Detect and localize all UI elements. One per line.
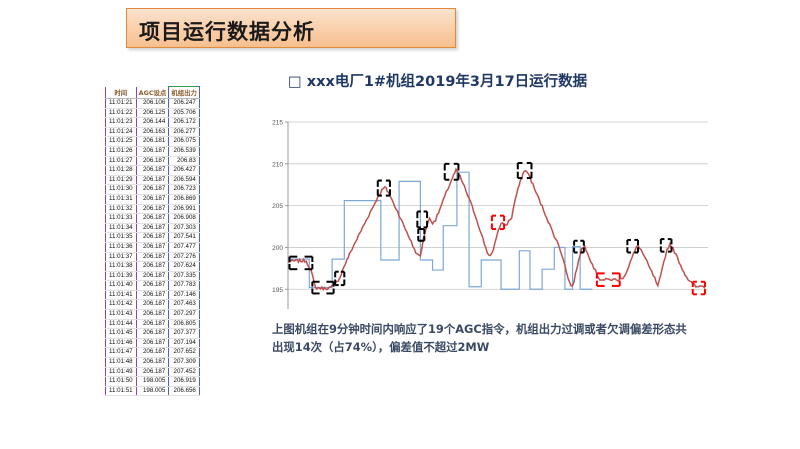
cell-unit-output: 206.991 <box>169 204 200 214</box>
table-row[interactable]: 11:01:24206.163206.277 <box>106 127 200 137</box>
cell-unit-output: 207.463 <box>169 300 200 310</box>
cell-time: 11:01:42 <box>106 300 137 310</box>
overshoot-marker <box>417 211 427 227</box>
cell-unit-output: 206.723 <box>169 185 200 195</box>
table-row[interactable]: 11:01:39206.187207.335 <box>106 271 200 281</box>
table-row[interactable]: 11:01:44206.187206.805 <box>106 319 200 329</box>
table-row[interactable]: 11:01:37206.187207.276 <box>106 252 200 262</box>
cell-agc-setpoint: 206.187 <box>136 319 169 329</box>
cell-time: 11:01:32 <box>106 204 137 214</box>
table-row[interactable]: 11:01:49206.187207.452 <box>106 367 200 377</box>
cell-unit-output: 207.624 <box>169 262 200 272</box>
cell-time: 11:01:45 <box>106 329 137 339</box>
cell-time: 11:01:34 <box>106 223 137 233</box>
chart-caption: 上图机组在9分钟时间内响应了19个AGC指令，机组出力过调或者欠调偏差形态共出现… <box>272 320 692 356</box>
cell-agc-setpoint: 206.187 <box>136 358 169 368</box>
chart-y-axis-labels: 195200205210215 <box>272 120 283 294</box>
cell-unit-output: 206.539 <box>169 146 200 156</box>
table-row[interactable]: 11:01:36206.187207.477 <box>106 242 200 252</box>
agc-response-chart: 195200205210215 <box>258 118 710 313</box>
table-row[interactable]: 11:01:50198.005206.919 <box>106 377 200 387</box>
cell-unit-output: 207.652 <box>169 348 200 358</box>
cell-unit-output: 207.194 <box>169 338 200 348</box>
cell-unit-output: 205.706 <box>169 108 200 118</box>
cell-agc-setpoint: 206.163 <box>136 127 169 137</box>
bullet-square-icon: □ <box>288 74 302 90</box>
cell-unit-output: 207.276 <box>169 252 200 262</box>
table-row[interactable]: 11:01:34206.187207.303 <box>106 223 200 233</box>
cell-unit-output: 207.783 <box>169 281 200 291</box>
table-row[interactable]: 11:01:27206.187206.83 <box>106 156 200 166</box>
cell-time: 11:01:46 <box>106 338 137 348</box>
cell-time: 11:01:35 <box>106 233 137 243</box>
cell-agc-setpoint: 206.187 <box>136 223 169 233</box>
cell-time: 11:01:29 <box>106 175 137 185</box>
cell-agc-setpoint: 206.187 <box>136 367 169 377</box>
cell-unit-output: 207.303 <box>169 223 200 233</box>
column-header-unit-output: 机组出力 <box>169 87 200 99</box>
cell-unit-output: 207.477 <box>169 242 200 252</box>
cell-agc-setpoint: 206.181 <box>136 137 169 147</box>
cell-unit-output: 206.919 <box>169 377 200 387</box>
column-header-time: 时间 <box>106 87 137 99</box>
cell-unit-output: 206.805 <box>169 319 200 329</box>
table: 时间 AGC设点 机组出力 11:01:21206.106206.24711:0… <box>105 86 200 396</box>
table-row[interactable]: 11:01:43206.187207.297 <box>106 310 200 320</box>
cell-agc-setpoint: 206.187 <box>136 175 169 185</box>
cell-agc-setpoint: 206.187 <box>136 185 169 195</box>
table-row[interactable]: 11:01:23206.144206.172 <box>106 118 200 128</box>
cell-time: 11:01:21 <box>106 99 137 109</box>
cell-agc-setpoint: 206.187 <box>136 300 169 310</box>
cell-agc-setpoint: 206.187 <box>136 348 169 358</box>
cell-time: 11:01:23 <box>106 118 137 128</box>
cell-time: 11:01:48 <box>106 358 137 368</box>
cell-unit-output: 206.247 <box>169 99 200 109</box>
chart-svg: 195200205210215 <box>258 118 710 313</box>
table-row[interactable]: 11:01:21206.106206.247 <box>106 99 200 109</box>
cell-agc-setpoint: 206.187 <box>136 281 169 291</box>
cell-time: 11:01:41 <box>106 290 137 300</box>
table-row[interactable]: 11:01:38206.187207.624 <box>106 262 200 272</box>
cell-time: 11:01:28 <box>106 166 137 176</box>
table-row[interactable]: 11:01:22206.125205.706 <box>106 108 200 118</box>
cell-time: 11:01:38 <box>106 262 137 272</box>
cell-time: 11:01:27 <box>106 156 137 166</box>
y-tick-label: 200 <box>272 245 283 252</box>
cell-unit-output: 206.277 <box>169 127 200 137</box>
cell-agc-setpoint: 198.005 <box>136 377 169 387</box>
cell-agc-setpoint: 206.187 <box>136 156 169 166</box>
table-row[interactable]: 11:01:40206.187207.783 <box>106 281 200 291</box>
cell-agc-setpoint: 206.187 <box>136 262 169 272</box>
cell-agc-setpoint: 198.005 <box>136 386 169 396</box>
table-row[interactable]: 11:01:47206.187207.652 <box>106 348 200 358</box>
cell-time: 11:01:50 <box>106 377 137 387</box>
cell-agc-setpoint: 206.187 <box>136 233 169 243</box>
deviation-annotation-boxes <box>290 163 705 294</box>
table-row[interactable]: 11:01:33206.187206.908 <box>106 214 200 224</box>
y-tick-label: 205 <box>272 203 283 210</box>
cell-time: 11:01:26 <box>106 146 137 156</box>
cell-time: 11:01:47 <box>106 348 137 358</box>
cell-time: 11:01:43 <box>106 310 137 320</box>
cell-unit-output: 206.656 <box>169 386 200 396</box>
cell-time: 11:01:37 <box>106 252 137 262</box>
column-header-agc-setpoint: AGC设点 <box>136 87 169 99</box>
cell-unit-output: 207.146 <box>169 290 200 300</box>
cell-unit-output: 207.377 <box>169 329 200 339</box>
slide-title-banner: 项目运行数据分析 <box>126 8 456 48</box>
cell-unit-output: 206.172 <box>169 118 200 128</box>
cell-time: 11:01:33 <box>106 214 137 224</box>
table-row[interactable]: 11:01:31206.187206.869 <box>106 194 200 204</box>
cell-unit-output: 206.908 <box>169 214 200 224</box>
y-tick-label: 210 <box>272 161 283 168</box>
table-row[interactable]: 11:01:35206.187207.541 <box>106 233 200 243</box>
chart-gridlines <box>285 122 708 289</box>
table-row[interactable]: 11:01:42206.187207.463 <box>106 300 200 310</box>
table-row[interactable]: 11:01:51198.005206.656 <box>106 386 200 396</box>
cell-agc-setpoint: 206.187 <box>136 290 169 300</box>
table-header-row: 时间 AGC设点 机组出力 <box>106 87 200 99</box>
cell-time: 11:01:25 <box>106 137 137 147</box>
cell-agc-setpoint: 206.187 <box>136 271 169 281</box>
cell-unit-output: 206.869 <box>169 194 200 204</box>
table-row[interactable]: 11:01:26206.187206.539 <box>106 146 200 156</box>
cell-agc-setpoint: 206.187 <box>136 146 169 156</box>
cell-agc-setpoint: 206.187 <box>136 338 169 348</box>
table-row[interactable]: 11:01:29206.187206.594 <box>106 175 200 185</box>
table-row[interactable]: 11:01:41206.187207.146 <box>106 290 200 300</box>
cell-time: 11:01:22 <box>106 108 137 118</box>
table-row[interactable]: 11:01:25206.181206.075 <box>106 137 200 147</box>
table-row[interactable]: 11:01:28206.187206.427 <box>106 166 200 176</box>
cell-time: 11:01:24 <box>106 127 137 137</box>
cell-agc-setpoint: 206.187 <box>136 329 169 339</box>
series-unit-output <box>288 169 705 289</box>
cell-time: 11:01:40 <box>106 281 137 291</box>
cell-agc-setpoint: 206.187 <box>136 166 169 176</box>
table-row[interactable]: 11:01:46206.187207.194 <box>106 338 200 348</box>
series-agc-setpoint <box>288 172 592 289</box>
table-row[interactable]: 11:01:45206.187207.377 <box>106 329 200 339</box>
table-row[interactable]: 11:01:30206.187206.723 <box>106 185 200 195</box>
chart-heading: □ xxx电厂1#机组2019年3月17日运行数据 <box>288 70 587 91</box>
cell-time: 11:01:49 <box>106 367 137 377</box>
chart-heading-text: xxx电厂1#机组2019年3月17日运行数据 <box>307 74 587 90</box>
overshoot-marker <box>418 229 424 241</box>
cell-unit-output: 206.83 <box>169 156 200 166</box>
cell-unit-output: 207.541 <box>169 233 200 243</box>
cell-unit-output: 206.075 <box>169 137 200 147</box>
cell-unit-output: 206.594 <box>169 175 200 185</box>
cell-unit-output: 207.452 <box>169 367 200 377</box>
cell-agc-setpoint: 206.125 <box>136 108 169 118</box>
cell-agc-setpoint: 206.187 <box>136 204 169 214</box>
y-tick-label: 215 <box>272 120 283 127</box>
agc-data-table[interactable]: 时间 AGC设点 机组出力 11:01:21206.106206.24711:0… <box>105 86 235 396</box>
page-title: 项目运行数据分析 <box>139 16 315 46</box>
cell-time: 11:01:36 <box>106 242 137 252</box>
cell-agc-setpoint: 206.144 <box>136 118 169 128</box>
table-row[interactable]: 11:01:48206.187207.309 <box>106 358 200 368</box>
table-body: 11:01:21206.106206.24711:01:22206.125205… <box>106 99 200 396</box>
cell-unit-output: 206.427 <box>169 166 200 176</box>
cell-agc-setpoint: 206.187 <box>136 214 169 224</box>
cell-agc-setpoint: 206.187 <box>136 194 169 204</box>
cell-agc-setpoint: 206.187 <box>136 242 169 252</box>
cell-time: 11:01:44 <box>106 319 137 329</box>
table-row[interactable]: 11:01:32206.187206.991 <box>106 204 200 214</box>
cell-time: 11:01:31 <box>106 194 137 204</box>
cell-unit-output: 207.309 <box>169 358 200 368</box>
cell-time: 11:01:51 <box>106 386 137 396</box>
cell-time: 11:01:30 <box>106 185 137 195</box>
cell-unit-output: 207.335 <box>169 271 200 281</box>
cell-agc-setpoint: 206.106 <box>136 99 169 109</box>
cell-time: 11:01:39 <box>106 271 137 281</box>
cell-agc-setpoint: 206.187 <box>136 252 169 262</box>
cell-unit-output: 207.297 <box>169 310 200 320</box>
y-tick-label: 195 <box>272 287 283 294</box>
cell-agc-setpoint: 206.187 <box>136 310 169 320</box>
